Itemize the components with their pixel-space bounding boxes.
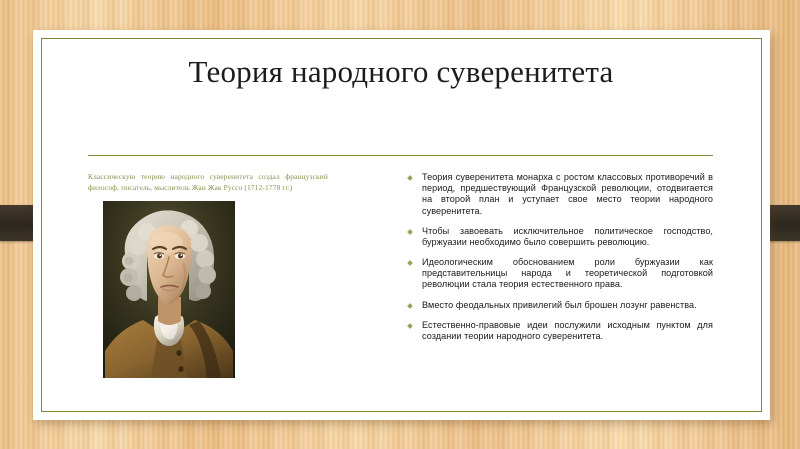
page-title: Теория народного суверенитета <box>91 52 711 92</box>
bullet-diamond-icon <box>407 260 413 266</box>
list-item: Идеологическим обоснованием роли буржуаз… <box>408 257 713 291</box>
bullet-text: Чтобы завоевать исключительное политичес… <box>422 226 713 248</box>
title-divider <box>88 155 713 156</box>
bullet-text: Естественно-правовые идеи послужили исхо… <box>422 320 713 342</box>
list-item: Вместо феодальных привилегий был брошен … <box>408 300 713 311</box>
left-column: Классическую теорию народного суверените… <box>88 172 328 378</box>
bullet-diamond-icon <box>407 175 413 181</box>
slide-body: Теория народного суверенитета Классическ… <box>33 30 770 420</box>
portrait-rousseau <box>103 201 235 378</box>
list-item: Чтобы завоевать исключительное политичес… <box>408 226 713 248</box>
bullet-diamond-icon <box>407 229 413 235</box>
slide-card: Теория народного суверенитета Классическ… <box>33 30 770 420</box>
list-item: Естественно-правовые идеи послужили исхо… <box>408 320 713 342</box>
bullet-text: Идеологическим обоснованием роли буржуаз… <box>422 257 713 291</box>
bullet-text: Теория суверенитета монарха с ростом кла… <box>422 172 713 217</box>
bullet-diamond-icon <box>407 323 413 329</box>
bullet-list: Теория суверенитета монарха с ростом кла… <box>408 172 713 351</box>
list-item: Теория суверенитета монарха с ростом кла… <box>408 172 713 217</box>
bullet-diamond-icon <box>407 303 413 309</box>
portrait-illustration <box>103 201 235 378</box>
portrait-caption: Классическую теорию народного суверените… <box>88 172 328 193</box>
bullet-text: Вместо феодальных привилегий был брошен … <box>422 300 713 311</box>
